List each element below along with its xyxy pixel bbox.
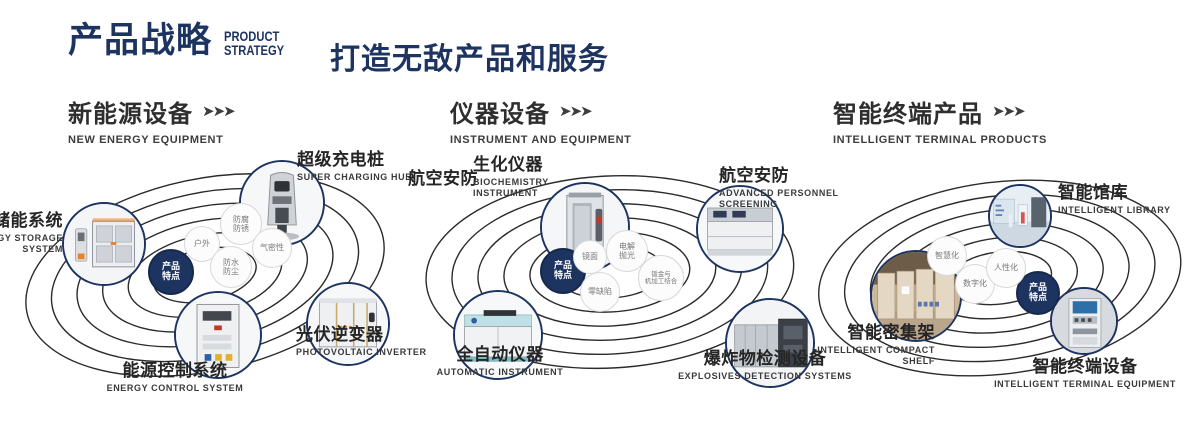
title-en-line1: PRODUCT: [224, 29, 284, 43]
label-cn: 智能密集架: [795, 324, 935, 343]
feature-text: 防腐: [233, 215, 249, 224]
feature-text: 数字化: [963, 279, 987, 288]
feature-text: 气密性: [260, 243, 284, 252]
feature-bubble-3: 钣金与 机加工结合: [638, 255, 684, 301]
feature-text: 人性化: [994, 263, 1018, 272]
section-header-instrument: 仪器设备 ➤➤➤ INSTRUMENT AND EQUIPMENT: [450, 94, 631, 146]
slogan: 打造无敌产品和服务: [330, 34, 609, 78]
label-en: INTELLIGENT TERMINAL EQUIPMENT: [965, 379, 1200, 390]
label-energy-storage-system: 储能系统 ENERGY STORAGE SYSTEM: [0, 212, 63, 255]
kiosk-terminal-photo: [1052, 289, 1116, 353]
title-en-line2: STRATEGY: [224, 43, 284, 57]
label-automatic-instrument: 全自动仪器 AUTOMATIC INSTRUMENT: [410, 346, 590, 378]
core-line2: 特点: [1029, 293, 1047, 303]
label-intelligent-library: 智能馆库 INTELLIGENT LIBRARY: [1058, 184, 1200, 216]
core-line2: 特点: [162, 272, 180, 282]
feature-text: 防尘: [223, 267, 239, 276]
label-cn: 储能系统: [0, 212, 63, 231]
feature-text: 防锈: [233, 224, 249, 233]
section-title-cn-2: 智能终端产品 ➤➤➤: [833, 94, 1047, 129]
feature-text: 镜面: [582, 252, 598, 261]
core-line2: 特点: [554, 271, 572, 281]
label-en: ENERGY STORAGE SYSTEM: [0, 233, 63, 256]
cluster-new-energy: 产品 特点 户外 防腐 防锈 防水 防尘 气密性 储能系统 ENERGY: [0, 150, 410, 400]
cluster-intelligent-terminal: 产品 特点 智慧化 数字化 人性化 智能馆库 INTELLIGENT LIBRA…: [800, 160, 1200, 405]
chevron-right-triple-icon: ➤➤➤: [559, 102, 591, 120]
section-header-intelligent-terminal: 智能终端产品 ➤➤➤ INTELLIGENT TERMINAL PRODUCTS: [833, 94, 1047, 146]
product-strategy-infographic: 产品战略 PRODUCT STRATEGY 打造无敌产品和服务 新能源设备 ➤➤…: [0, 0, 1200, 422]
feature-text: 零缺陷: [588, 287, 612, 296]
title-en: PRODUCT STRATEGY: [224, 29, 284, 57]
section-title-en-1: INSTRUMENT AND EQUIPMENT: [450, 134, 631, 146]
label-en: BIOCHEMISTRY INSTRUMENT: [473, 177, 593, 200]
feature-bubble-3: 气密性: [252, 228, 292, 268]
feature-bubble-2: 零缺陷: [580, 272, 620, 312]
feature-text: 户外: [194, 239, 210, 248]
label-cn: 生化仪器: [473, 156, 593, 175]
label-intelligent-terminal-equipment: 智能终端设备 INTELLIGENT TERMINAL EQUIPMENT: [965, 358, 1200, 390]
cluster-instrument: 产品 特点 镜面 电解 抛光 零缺陷 钣金与 机加工结合 航空安防: [400, 150, 820, 400]
feature-text: 电解: [619, 242, 635, 251]
chevron-right-triple-icon: ➤➤➤: [202, 102, 234, 120]
feature-bubble-2: 防水 防尘: [210, 246, 252, 288]
label-biochemistry-instrument: 生化仪器 BIOCHEMISTRY INSTRUMENT: [473, 156, 593, 199]
core-bubble-product-features: 产品 特点: [148, 249, 194, 295]
battery-cabinet-photo: [64, 204, 144, 284]
label-cn: 智能终端设备: [965, 358, 1200, 377]
section-title-cn-1: 仪器设备 ➤➤➤: [450, 94, 631, 129]
label-cn: 智能馆库: [1058, 184, 1200, 203]
feature-text: 机加工结合: [645, 278, 678, 285]
core-line1: 产品: [162, 262, 180, 272]
feature-bubble-2: 人性化: [986, 248, 1026, 288]
core-line1: 产品: [1029, 283, 1047, 293]
section-title-cn-0: 新能源设备 ➤➤➤: [68, 94, 234, 129]
section-header-new-energy: 新能源设备 ➤➤➤ NEW ENERGY EQUIPMENT: [68, 94, 234, 146]
page-title: 产品战略 PRODUCT STRATEGY: [68, 24, 299, 59]
feature-text: 抛光: [619, 251, 635, 260]
node-energy-storage-system[interactable]: [62, 202, 146, 286]
chevron-right-triple-icon: ➤➤➤: [992, 102, 1024, 120]
label-energy-control-system: 能源控制系统 ENERGY CONTROL SYSTEM: [75, 362, 275, 394]
section-label-0: 新能源设备: [68, 94, 193, 129]
core-line1: 产品: [554, 261, 572, 271]
label-en: INTELLIGENT LIBRARY: [1058, 205, 1200, 216]
feature-text: 防水: [223, 258, 239, 267]
library-interior-photo: [990, 186, 1050, 246]
label-intelligent-compact-shelf: 智能密集架 INTELLIGENT COMPACT SHELF: [795, 324, 935, 367]
section-title-en-0: NEW ENERGY EQUIPMENT: [68, 134, 234, 146]
title-cn: 产品战略: [68, 24, 212, 59]
label-en: AUTOMATIC INSTRUMENT: [410, 367, 590, 378]
label-en: ENERGY CONTROL SYSTEM: [75, 383, 275, 394]
label-cn: 全自动仪器: [410, 346, 590, 365]
section-label-1: 仪器设备: [450, 94, 550, 129]
node-intelligent-terminal-equipment[interactable]: [1050, 287, 1118, 355]
feature-text: 智慧化: [935, 251, 959, 260]
feature-bubble-0: 镜面: [573, 240, 607, 274]
section-label-2: 智能终端产品: [833, 94, 983, 129]
label-cn: 能源控制系统: [75, 362, 275, 381]
section-title-en-2: INTELLIGENT TERMINAL PRODUCTS: [833, 134, 1047, 146]
node-intelligent-library[interactable]: [988, 184, 1052, 248]
label-en: INTELLIGENT COMPACT SHELF: [795, 345, 935, 368]
